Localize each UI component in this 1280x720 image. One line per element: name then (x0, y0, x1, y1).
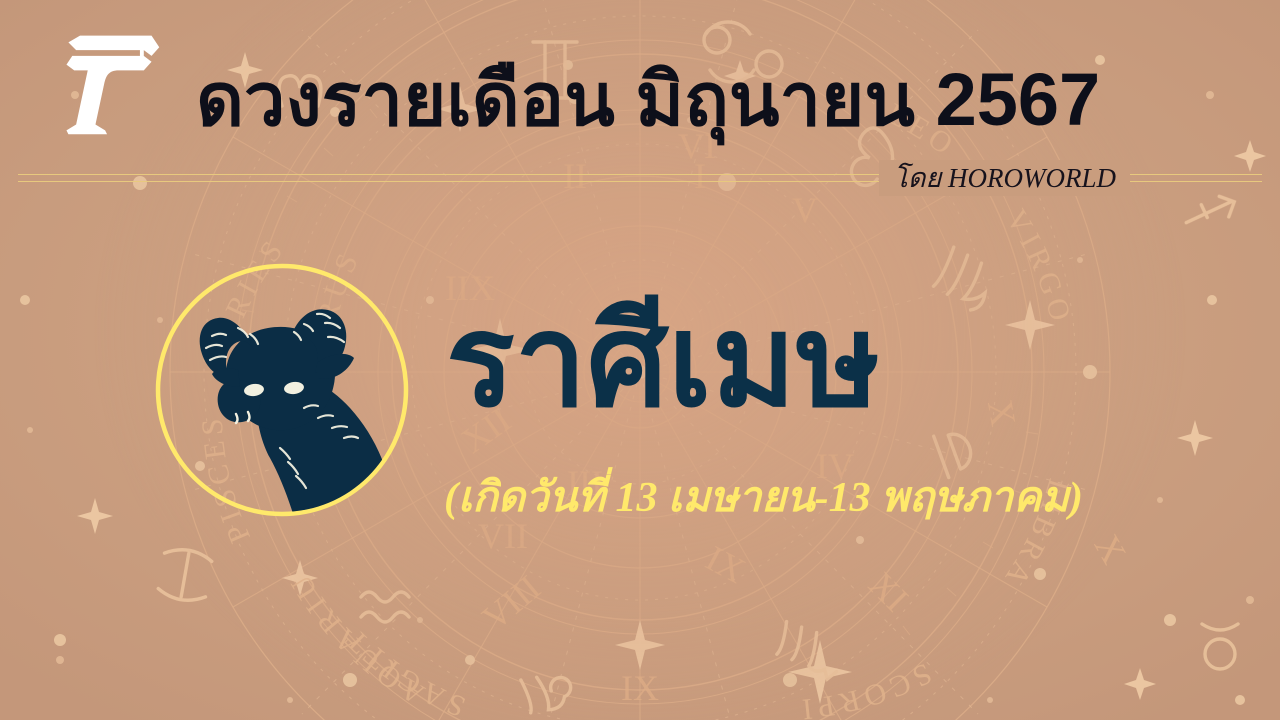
byline: โดย HOROWORLD (879, 160, 1130, 196)
wheel-numeral-IXb: IX (621, 668, 659, 708)
wheel-numeral-VIII: VIII (475, 568, 548, 638)
wheel-numeral-XI: XI (861, 564, 916, 619)
horoscope-banner: TAURUS VIRGO LIBRA AQUARIUS PISCES ARIES… (0, 0, 1280, 720)
wheel-numeral-IX: IX (699, 538, 751, 591)
wheel-numeral-Xb: X (1087, 528, 1135, 571)
header-divider: โดย HOROWORLD (0, 160, 1280, 208)
zodiac-sign-dates: (เกิดวันที่ 13 เมษายน-13 พฤษภาคม) (444, 470, 1204, 526)
page-title: ดวงรายเดือน มิถุนายน 2567 (196, 58, 1156, 142)
aries-ram-icon (154, 262, 410, 518)
zodiac-sign-name: ราศีเมษ (446, 288, 1146, 436)
horoworld-logo-icon[interactable] (50, 24, 168, 140)
